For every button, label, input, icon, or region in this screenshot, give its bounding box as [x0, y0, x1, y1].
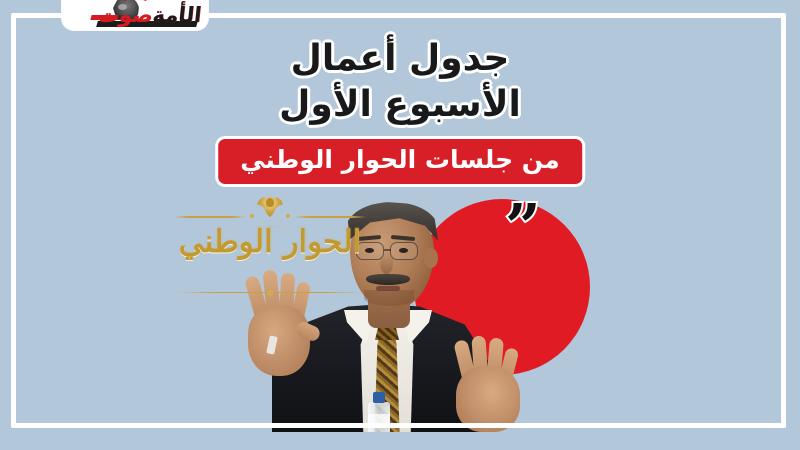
masthead-tagline: جريدة مصرية مستقلة	[98, 0, 151, 2]
eyeglass-bridge	[384, 249, 391, 251]
masthead-logo[interactable]: جريدة مصرية مستقلة الأمةصوت	[62, 0, 208, 30]
nose	[380, 254, 393, 274]
moustache	[366, 274, 410, 285]
ear	[424, 248, 438, 268]
ornament-dot-bottom	[267, 290, 273, 296]
headline-line-1: جدول أعمال	[0, 36, 800, 82]
ornament-rule-right	[294, 216, 366, 218]
ornament-rule-left	[174, 216, 246, 218]
raised-hand-right	[450, 336, 526, 432]
masthead-brand-red: صوت	[97, 3, 154, 27]
quote-mark-icon: ”	[505, 196, 539, 258]
national-dialogue-title: الحوار الوطني	[172, 220, 368, 264]
headline-block: جدول أعمال الأسبوع الأول	[0, 36, 800, 128]
subtitle-banner: من جلسات الحوار الوطني	[218, 139, 582, 184]
masthead-brand-black: الأمة	[151, 3, 202, 27]
national-dialogue-logo: ﹷ ﹷ ﹷ ﹷ ﹷ الحوار الوطني	[172, 196, 368, 304]
ornament-dot-right	[286, 214, 290, 218]
subtitle-banner-text: من جلسات الحوار الوطني	[240, 145, 560, 175]
ornament-dot-left	[250, 214, 254, 218]
masthead-brand: الأمةصوت	[97, 5, 202, 26]
headline-line-2: الأسبوع الأول	[0, 82, 800, 128]
photo-bottom-crop	[0, 432, 800, 450]
poster-canvas: ﹷ ﹷ ﹷ ﹷ ﹷ الحوار الوطني	[0, 0, 800, 450]
chin-shadow	[364, 290, 414, 306]
eye-right	[399, 248, 408, 253]
water-bottle	[368, 392, 390, 436]
eagle-of-saladin-icon	[257, 196, 283, 218]
